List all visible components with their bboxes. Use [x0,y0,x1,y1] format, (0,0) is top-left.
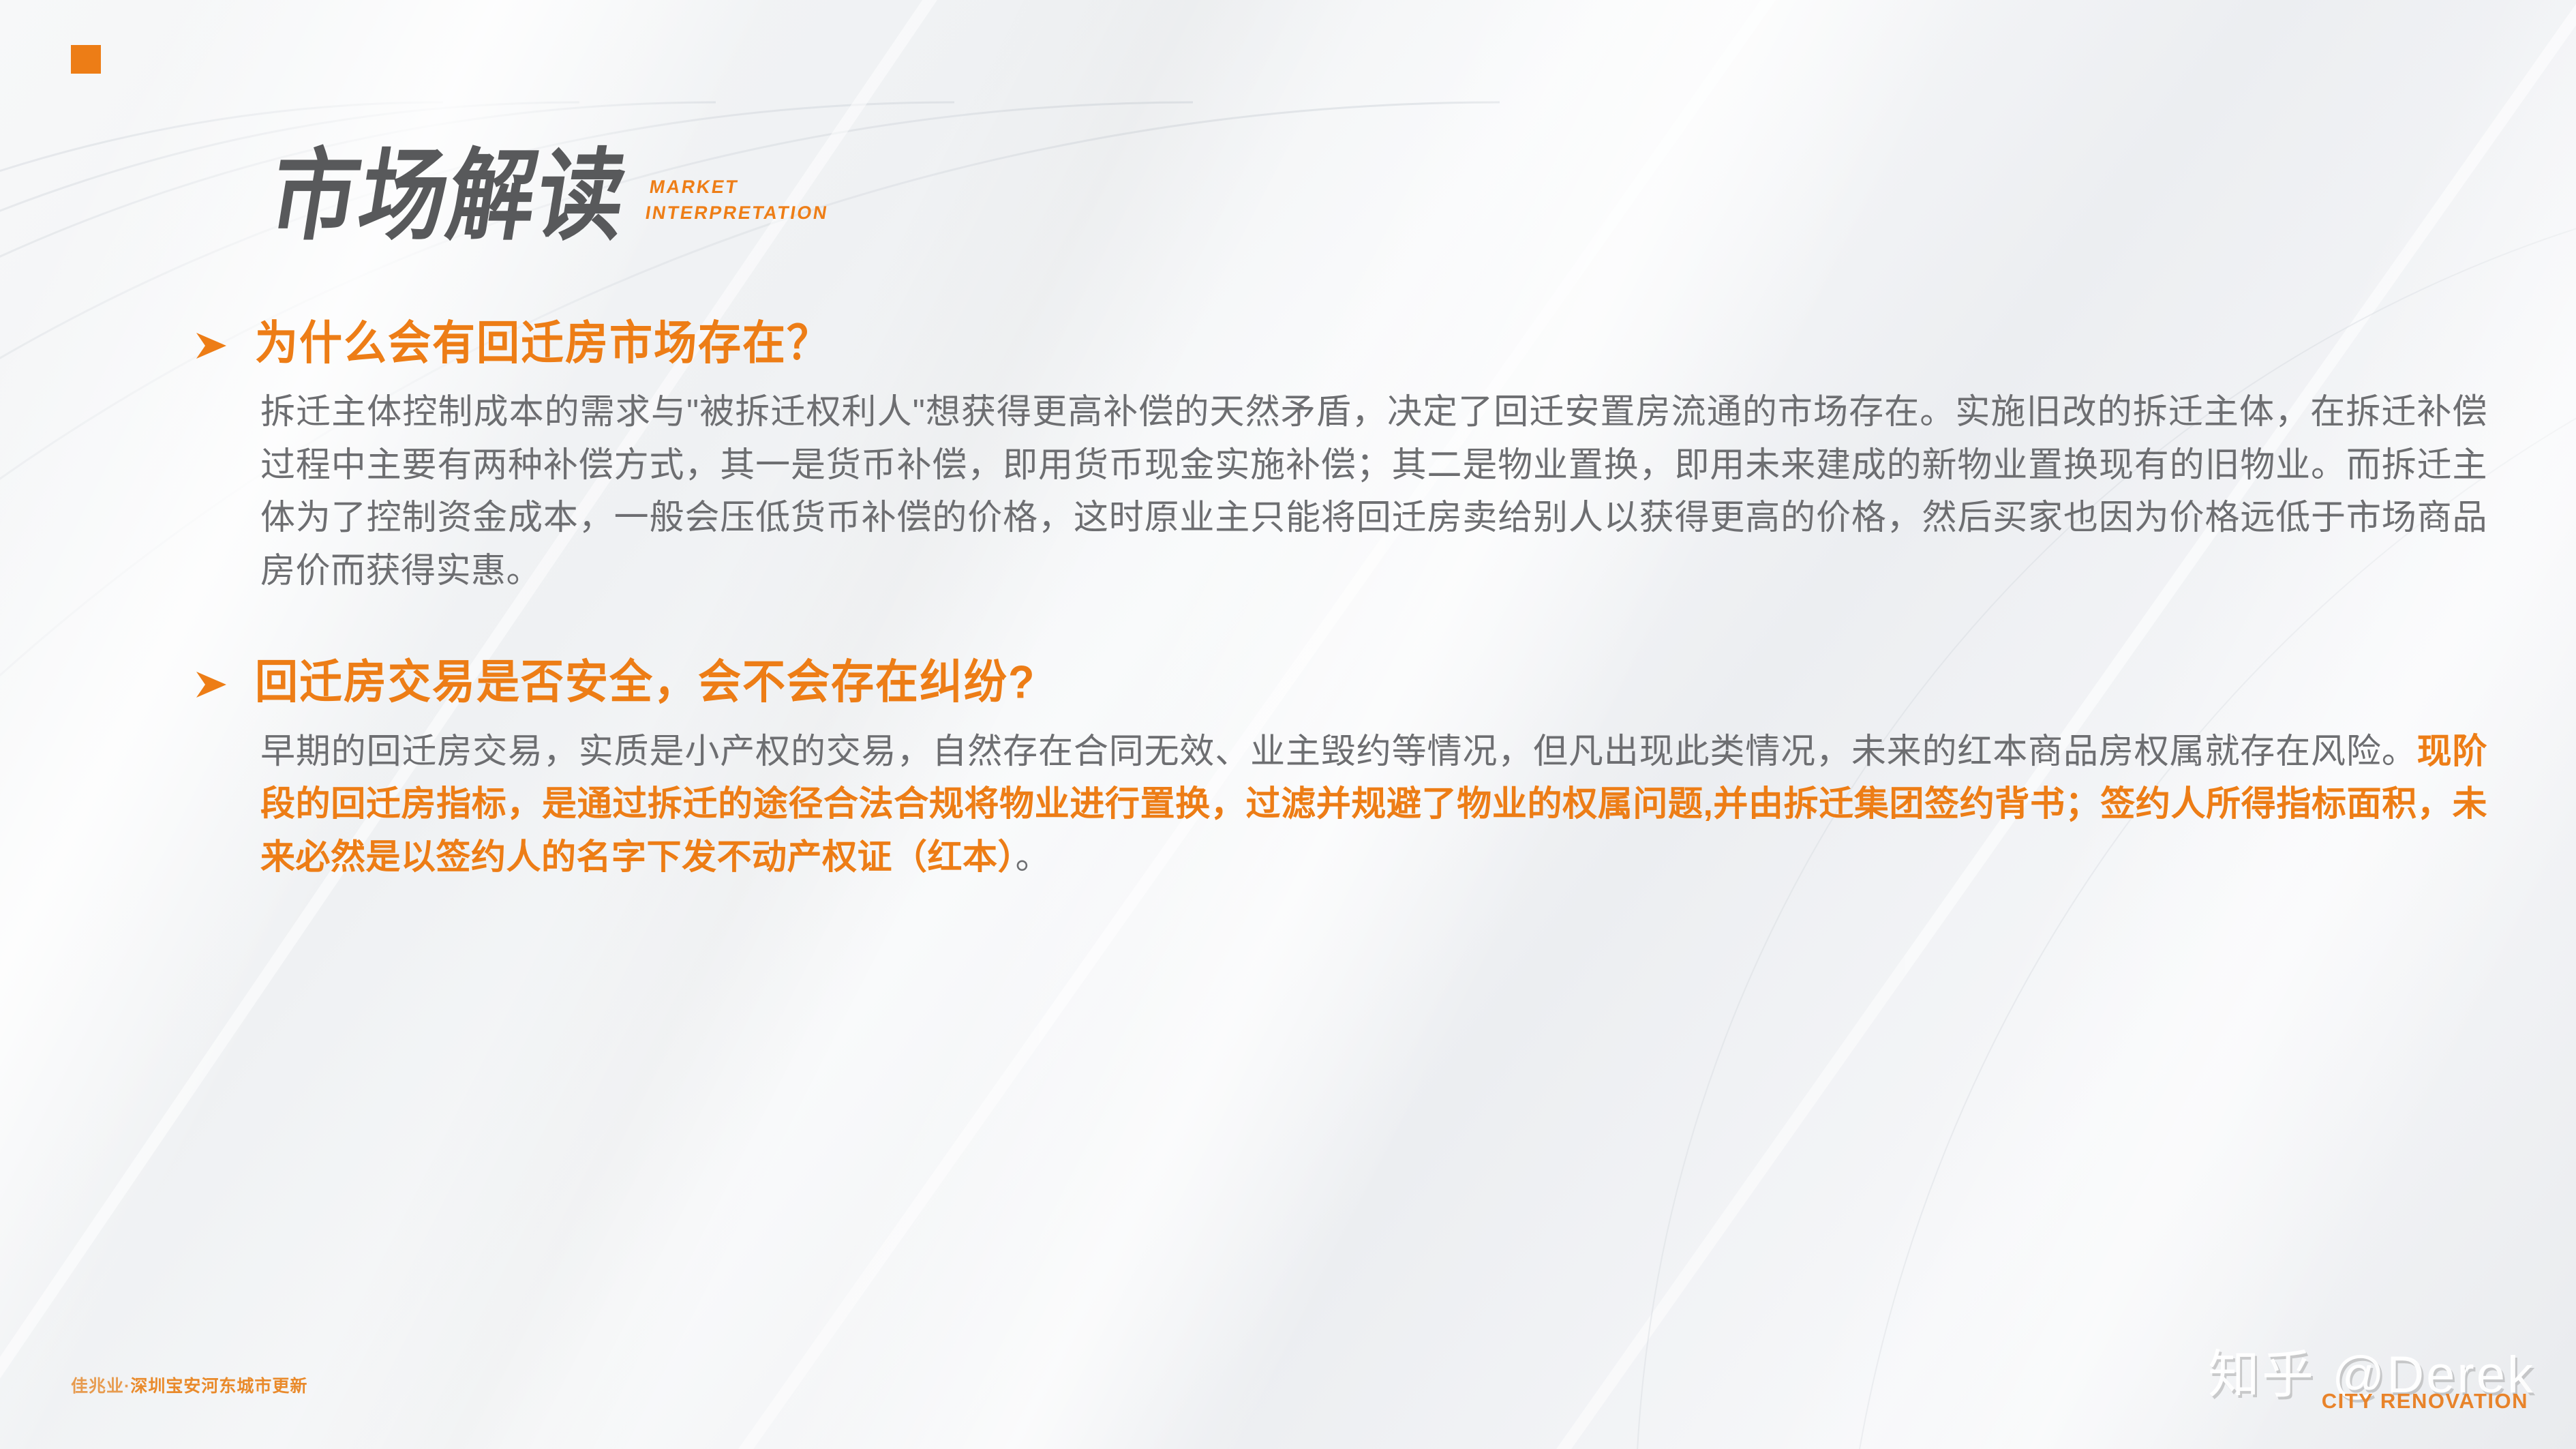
page-title-en-line1: MARKET [648,174,834,200]
body-plain-text: 早期的回迁房交易，实质是小产权的交易，自然存在合同无效、业主毁约等情况，但凡出现… [260,732,2417,771]
footer-project-name: 深圳宝安河东城市更新 [130,1377,307,1396]
body-plain-text: 拆迁主体控制成本的需求与"被拆迁权利人"想获得更高补偿的天然矛盾，决定了回迁安置… [260,392,2487,590]
section-heading-text: 为什么会有回迁房市场存在？ [255,318,831,370]
slide-canvas: 市场解读 MARKET INTERPRETATION 为什么会有回迁房市场存在？… [0,0,2576,1449]
section-heading-row: 为什么会有回迁房市场存在？ [0,320,2576,368]
content-area: 为什么会有回迁房市场存在？ 拆迁主体控制成本的需求与"被拆迁权利人"想获得更高补… [0,320,2576,916]
arrow-right-icon [194,666,229,703]
section-market-existence: 为什么会有回迁房市场存在？ 拆迁主体控制成本的需求与"被拆迁权利人"想获得更高补… [0,320,2576,597]
footer-brand-name: 佳兆业· [71,1377,130,1396]
page-title-en-line2: INTERPRETATION [643,200,830,226]
footer-brand-tag: 佳兆业·深圳宝安河东城市更新 [71,1373,307,1397]
arrow-right-icon [194,327,229,364]
section-body-paragraph: 拆迁主体控制成本的需求与"被拆迁权利人"想获得更高补偿的天然矛盾，决定了回迁安置… [0,385,2576,597]
page-title: 市场解读 MARKET INTERPRETATION [264,162,830,243]
section-heading-text: 回迁房交易是否安全，会不会存在纠纷? [255,658,1035,709]
watermark-subtitle: CITY RENOVATION [2208,1389,2528,1414]
page-title-cn: 市场解读 [264,151,633,243]
body-tail-text: 。 [1016,837,1051,876]
watermark-author: 知乎 @Derek [2208,1349,2535,1401]
corner-accent-square [71,45,101,74]
watermark: 知乎 @Derek CITY RENOVATION [2208,1349,2535,1414]
section-transaction-safety: 回迁房交易是否安全，会不会存在纠纷? 早期的回迁房交易，实质是小产权的交易，自然… [0,659,2576,883]
section-body-paragraph: 早期的回迁房交易，实质是小产权的交易，自然存在合同无效、业主毁约等情况，但凡出现… [0,725,2576,884]
page-title-en: MARKET INTERPRETATION [643,174,834,226]
section-heading-row: 回迁房交易是否安全，会不会存在纠纷? [0,659,2576,706]
